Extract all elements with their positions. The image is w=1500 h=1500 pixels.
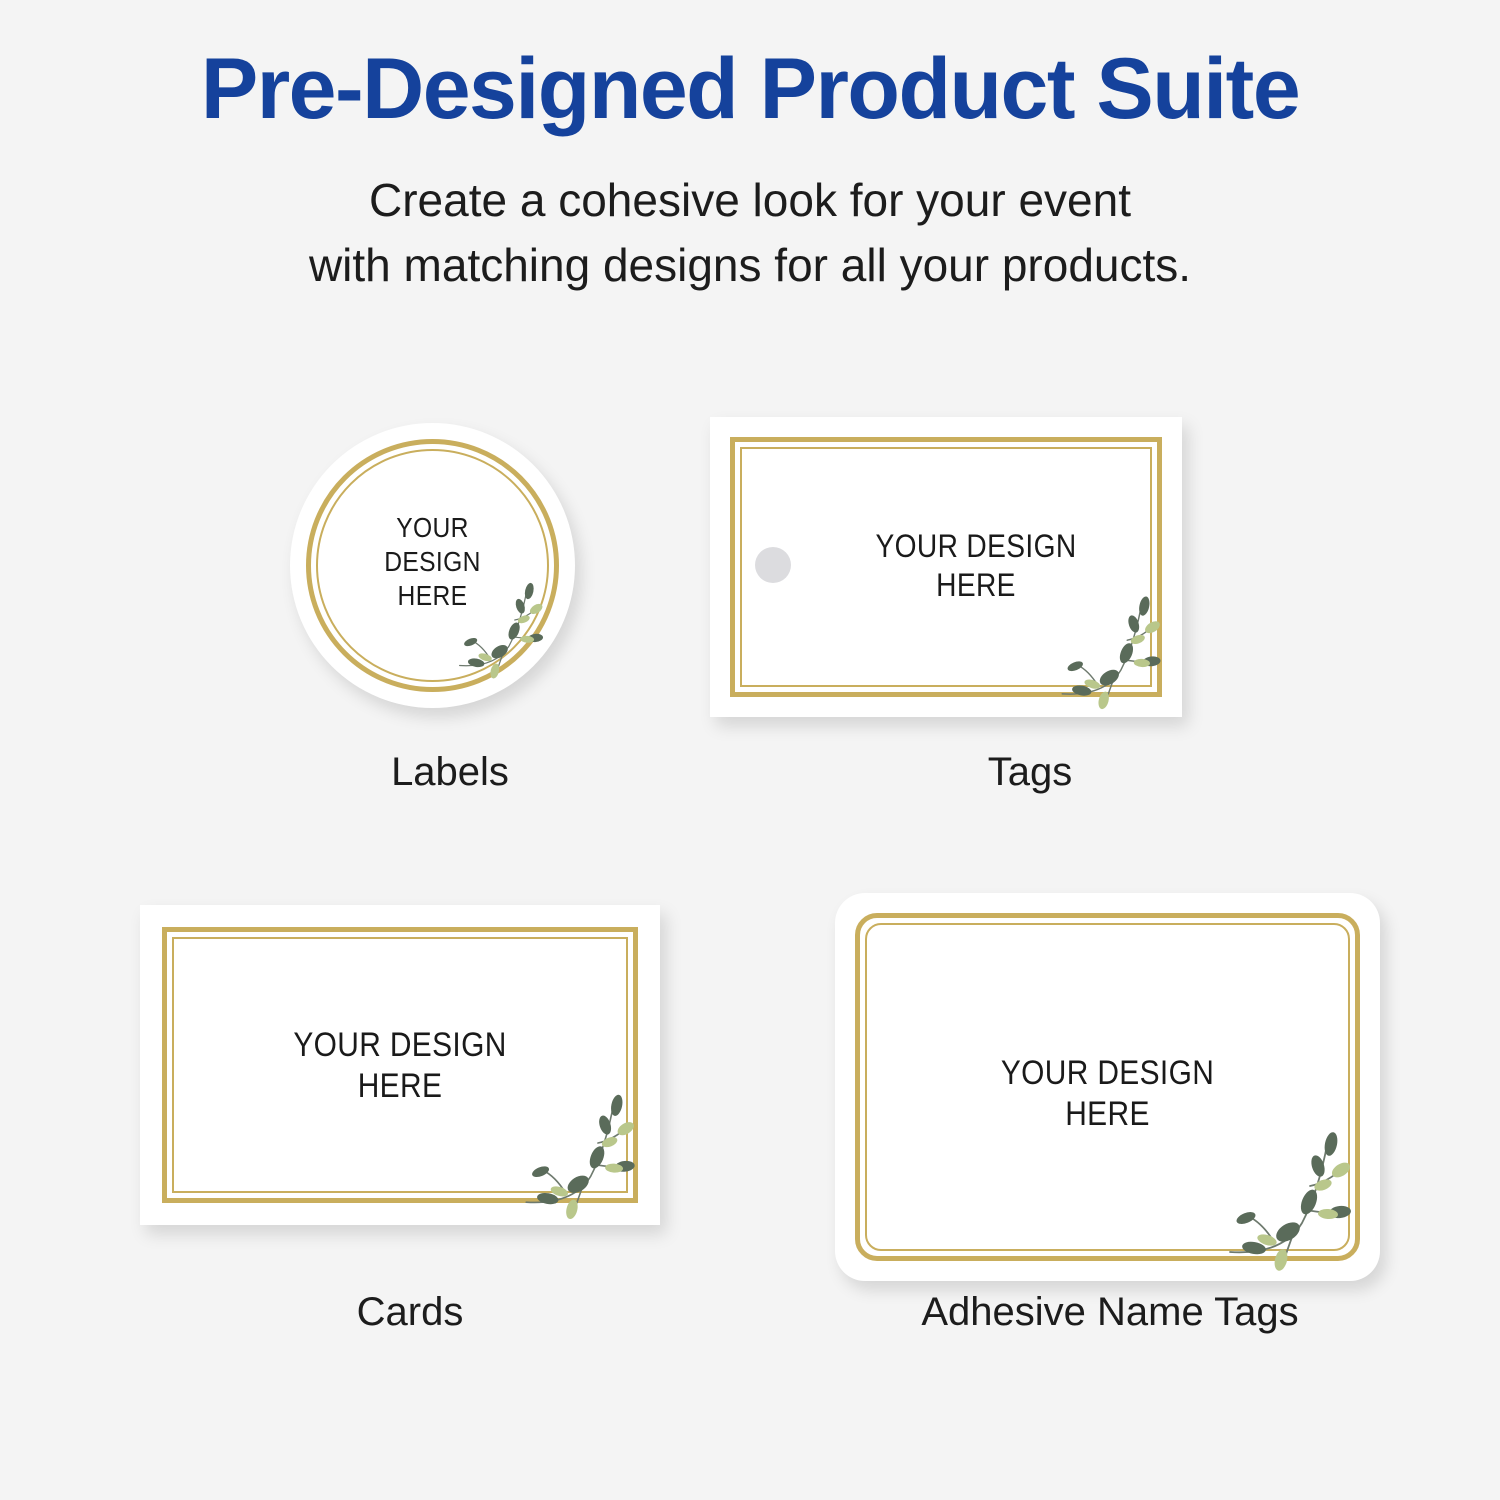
subtitle-line-2: with matching designs for all your produ… xyxy=(0,233,1500,298)
name-tag-mockup[interactable]: YOUR DESIGN HERE xyxy=(835,893,1380,1281)
design-text-line-1: YOUR DESIGN xyxy=(868,1053,1348,1094)
round-label-mockup[interactable]: YOUR DESIGN HERE xyxy=(290,423,575,708)
botanical-sprig-icon xyxy=(445,580,557,680)
product-tags[interactable]: YOUR DESIGN HERE xyxy=(700,395,1360,825)
card-mockup[interactable]: YOUR DESIGN HERE xyxy=(140,905,660,1225)
product-caption: Adhesive Name Tags xyxy=(760,1290,1460,1335)
design-text-line-1: YOUR xyxy=(307,511,558,545)
product-grid: YOUR DESIGN HERE xyxy=(0,395,1500,1465)
design-text-line-1: YOUR DESIGN xyxy=(795,527,1158,566)
product-cards[interactable]: YOUR DESIGN HERE xyxy=(60,885,760,1385)
page-subtitle: Create a cohesive look for your event wi… xyxy=(0,168,1500,299)
page-title: Pre-Designed Product Suite xyxy=(0,46,1500,132)
product-caption: Cards xyxy=(60,1290,760,1335)
design-placeholder-text: YOUR DESIGN HERE xyxy=(868,1053,1348,1136)
product-caption: Tags xyxy=(700,750,1360,795)
product-labels[interactable]: YOUR DESIGN HERE xyxy=(140,395,760,825)
tag-hole-punch-icon xyxy=(755,547,791,583)
subtitle-line-1: Create a cohesive look for your event xyxy=(0,168,1500,233)
page-header: Pre-Designed Product Suite Create a cohe… xyxy=(0,0,1500,299)
design-text-line-2: DESIGN xyxy=(307,545,558,579)
botanical-sprig-icon xyxy=(1046,593,1176,711)
product-caption: Labels xyxy=(140,750,760,795)
tag-mockup[interactable]: YOUR DESIGN HERE xyxy=(710,417,1182,717)
botanical-sprig-icon xyxy=(1210,1128,1370,1273)
design-text-line-1: YOUR DESIGN xyxy=(171,1025,629,1066)
product-adhesive-name-tags[interactable]: YOUR DESIGN HERE xyxy=(760,885,1460,1385)
botanical-sprig-icon xyxy=(506,1091,654,1221)
